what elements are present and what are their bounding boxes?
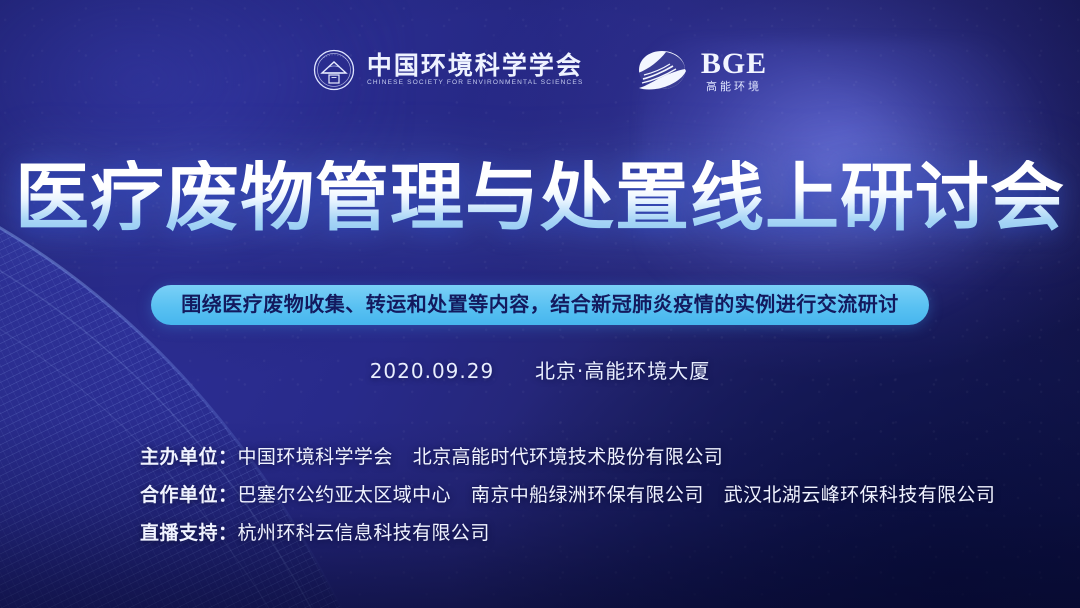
cses-name-en: CHINESE SOCIETY FOR ENVIRONMENTAL SCIENC… (367, 80, 587, 86)
bge-leaf-mark-icon (635, 49, 689, 91)
organiser-entity: 巴塞尔公约亚太区域中心 (238, 484, 451, 506)
cses-logo: 中国环境科学学会 CHINESE SOCIETY FOR ENVIRONMENT… (313, 49, 583, 91)
organiser-label: 主办单位： (140, 446, 238, 470)
organiser-list: 主办单位： 中国环境科学学会北京高能时代环境技术股份有限公司 合作单位： 巴塞尔… (140, 446, 995, 545)
organiser-entity: 武汉北湖云峰环保科技有限公司 (724, 484, 996, 506)
event-meta: 2020.09.29 北京·高能环境大厦 (0, 355, 1080, 384)
event-venue: 北京·高能环境大厦 (535, 359, 710, 383)
organiser-value: 巴塞尔公约亚太区域中心南京中船绿洲环保有限公司武汉北湖云峰环保科技有限公司 (238, 484, 996, 508)
cses-name-cn: 中国环境科学学会 (367, 53, 583, 78)
organiser-row: 直播支持： 杭州环科云信息科技有限公司 (140, 522, 995, 546)
organiser-entity: 中国环境科学学会 (238, 446, 393, 468)
organiser-row: 主办单位： 中国环境科学学会北京高能时代环境技术股份有限公司 (140, 446, 995, 470)
logo-bar: 中国环境科学学会 CHINESE SOCIETY FOR ENVIRONMENT… (0, 40, 1080, 100)
organiser-value: 中国环境科学学会北京高能时代环境技术股份有限公司 (238, 446, 724, 470)
bge-name-cn: 高能环境 (706, 81, 762, 92)
event-poster: 中国环境科学学会 CHINESE SOCIETY FOR ENVIRONMENT… (0, 0, 1080, 608)
bge-name-en: BGE (701, 49, 767, 79)
organiser-entity: 杭州环科云信息科技有限公司 (238, 522, 490, 544)
organiser-row: 合作单位： 巴塞尔公约亚太区域中心南京中船绿洲环保有限公司武汉北湖云峰环保科技有… (140, 484, 995, 508)
organiser-label: 合作单位： (140, 484, 238, 508)
organiser-entity: 北京高能时代环境技术股份有限公司 (413, 446, 723, 468)
event-date: 2020.09.29 (370, 359, 495, 383)
subtitle-container: 围绕医疗废物收集、转运和处置等内容，结合新冠肺炎疫情的实例进行交流研讨 (0, 285, 1080, 325)
page-title: 医疗废物管理与处置线上研讨会 (15, 160, 1065, 238)
organiser-value: 杭州环科云信息科技有限公司 (238, 522, 490, 546)
bge-logo: BGE 高能环境 (635, 49, 767, 92)
title-container: 医疗废物管理与处置线上研讨会 (0, 160, 1080, 238)
organiser-entity: 南京中船绿洲环保有限公司 (471, 484, 704, 506)
organiser-label: 直播支持： (140, 522, 238, 546)
subtitle-badge: 围绕医疗废物收集、转运和处置等内容，结合新冠肺炎疫情的实例进行交流研讨 (151, 285, 929, 325)
circular-seal-emblem-icon (313, 49, 355, 91)
